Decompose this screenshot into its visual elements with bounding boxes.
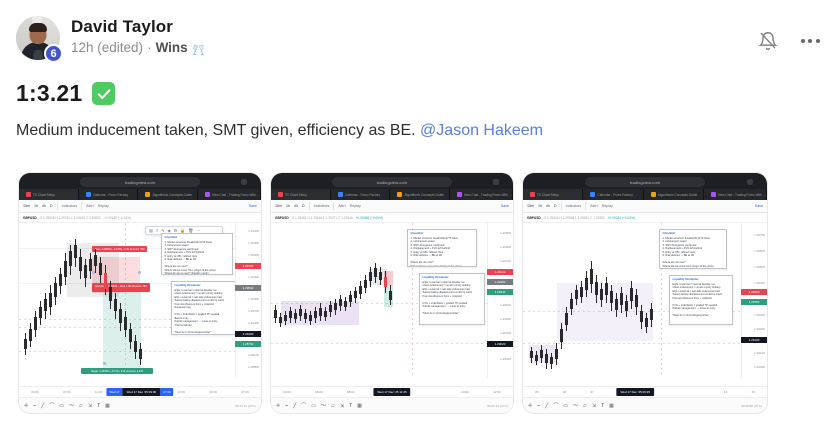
- price-tick: 1.29900: [500, 231, 511, 235]
- browser-tab[interactable]: Algorithmic Concepts Guide: [138, 189, 198, 200]
- favicon: [457, 192, 462, 197]
- price-tick: 1.29600: [500, 303, 511, 307]
- favicon: [590, 192, 595, 197]
- more-horizontal-icon[interactable]: [799, 30, 821, 52]
- interval-1h[interactable]: 1h: [538, 204, 542, 208]
- avatar-wrapper[interactable]: 6: [16, 16, 60, 60]
- chart-canvas-2[interactable]: Checklist 1. Market structure break/shif…: [271, 223, 513, 378]
- price-tick: 1.30900: [248, 241, 259, 245]
- line-icon[interactable]: ╱: [545, 403, 548, 409]
- time-cursor-pill-1: Wed 17 Wed 17 Dec '25 09:00 17:00: [106, 388, 173, 396]
- author-meta: David Taylor 12h (edited) · Wins: [71, 16, 205, 55]
- price-tick: 1.29300: [500, 357, 511, 361]
- price-tick: 1.29600: [754, 249, 765, 253]
- time-axis-2[interactable]: 04:00 06:00 08:00 10:00 ·· 20:00 22:00 W…: [271, 386, 513, 397]
- chart-thumbnail-3[interactable]: tradingview.com TV Chart Setup Calendar …: [523, 173, 767, 413]
- time-tick: 07:00: [63, 390, 71, 394]
- price-tick: 1.29700: [248, 309, 259, 313]
- note-line: "Must be in chronological order": [423, 312, 460, 315]
- time-tick: 08:00: [347, 390, 355, 394]
- browser-chrome-1: tradingview.com TV Chart Setup Calendar …: [19, 173, 261, 200]
- rectangle-icon[interactable]: ▭: [311, 403, 316, 409]
- price-tick: 1.29400: [248, 321, 259, 325]
- note-line: Partial management → move to entry: [423, 305, 466, 308]
- target-price-label: 1.29340: [487, 289, 513, 295]
- target-price-label: 1.29352: [741, 299, 767, 305]
- interval-1h[interactable]: 1h: [286, 204, 290, 208]
- drawing-tools-bar-3[interactable]: ✛ ⌁ ╱ ⌒ ▭ 〜 ▱ ⇲ T ▦ 09:28:58 (UTC): [523, 397, 767, 413]
- price-tick: 1.29800: [500, 245, 511, 249]
- note-line: Premium/discount from + midpoint: [423, 295, 462, 298]
- tab-label: Calendar - Forex Factory: [93, 193, 128, 197]
- last-price-label: 1.29100: [741, 337, 767, 343]
- time-tick: 06:00: [315, 390, 323, 394]
- attachment-gallery: tradingview.com TV Chart Setup Calendar …: [19, 173, 767, 413]
- favicon: [651, 192, 656, 197]
- price-tick: 1.29200: [754, 327, 765, 331]
- browser-tab[interactable]: TV Chart Setup: [523, 189, 583, 200]
- target-label: Target: 1.28752 (−0.7%) / 3.2L Amount: 2…: [81, 368, 153, 374]
- interval-15m[interactable]: 15m: [23, 204, 30, 208]
- post-timestamp: 12h (edited): [71, 40, 143, 55]
- wave-icon[interactable]: 〜: [573, 402, 578, 409]
- browser-url-bar-3: tradingview.com: [585, 177, 705, 187]
- favicon: [145, 192, 150, 197]
- time-tick: 05: [535, 390, 538, 394]
- browser-tab[interactable]: Algorithmic Concepts Guide: [390, 189, 450, 200]
- avatar-shirt: [34, 50, 43, 60]
- price-tick: 1.30600: [248, 253, 259, 257]
- time-tick: 11:00: [95, 390, 102, 394]
- last-price-label: 1.29102: [235, 331, 261, 337]
- note-line: Premium/discount from + midpoint: [673, 297, 712, 300]
- text-tool-icon[interactable]: T: [349, 403, 352, 409]
- page-title: 1:3.21: [16, 80, 82, 107]
- tab-label: Algorithmic Concepts Guide: [152, 193, 192, 197]
- range-zone-low[interactable]: [529, 345, 557, 363]
- browser-tab[interactable]: TV Chart Setup: [271, 189, 331, 200]
- replay-button[interactable]: Replay: [602, 204, 613, 208]
- browser-menu-icon-3: [747, 179, 753, 185]
- browser-tab[interactable]: Calendar - Forex Factory: [331, 189, 391, 200]
- entry-label: Entry/Exit: 1.29502 – Risk 1.0R Amount: …: [92, 283, 150, 292]
- note-line: Trail remainder: [175, 324, 192, 327]
- browser-menu-icon-1: [241, 179, 247, 185]
- price-tick: 1.31200: [248, 229, 259, 233]
- toolbar-divider: [309, 202, 310, 210]
- note-line: "Must be in chronological order": [673, 314, 710, 317]
- chart-canvas-1[interactable]: Stop: 1.29620 (−0.13%) / 1.3L Amount: 76…: [19, 223, 261, 378]
- drawing-tools-bar-1[interactable]: ✛ ⌁ ╱ ⌒ ▭ 〜 ▱ ⇲ T ▦ 09:21:31 (UTC): [19, 397, 261, 413]
- tab-label: Calendar - Forex Factory: [597, 193, 632, 197]
- post-tag[interactable]: Wins: [156, 40, 188, 55]
- price-tick: 1.29000: [754, 365, 765, 369]
- price-tick: 1.29700: [500, 259, 511, 263]
- white-check-mark-icon: [92, 82, 115, 105]
- callout-icon[interactable]: ▱: [583, 403, 587, 409]
- curve-icon[interactable]: ⌒: [553, 402, 558, 409]
- favicon: [338, 192, 343, 197]
- ruler-icon[interactable]: ▦: [609, 403, 614, 409]
- note-line: "Must be in chronological order": [175, 331, 212, 334]
- save-button[interactable]: Save: [755, 204, 763, 208]
- tv-symbol-bar-2: GBPUSD O 1.29481 H 1.29516 L 1.29271 C 1…: [271, 213, 513, 223]
- tv-toolbar-3: 15m 1h 4h D Indicators Alert Replay Save: [523, 200, 767, 213]
- alert-button[interactable]: Alert: [338, 204, 345, 208]
- level-line: [271, 343, 513, 344]
- liquidity-note-3[interactable]: Liquidity Reminder EQH / external = inte…: [669, 275, 733, 325]
- liquidity-note-2[interactable]: Liquidity Reminder EQH / external = inte…: [419, 273, 485, 325]
- price-tick: 1.29100: [248, 353, 259, 357]
- last-price-label: 1.29020: [487, 341, 513, 347]
- toolbar-divider: [57, 202, 58, 210]
- note-title: Checklist: [411, 232, 474, 236]
- tab-label: Algorithmic Concepts Guide: [404, 193, 444, 197]
- user-mention-link[interactable]: @Jason Hakeem: [420, 122, 543, 139]
- checklist-note-2[interactable]: Checklist 1. Market structure break/shif…: [407, 229, 477, 267]
- browser-chrome-3: tradingview.com TV Chart Setup Calendar …: [523, 173, 767, 200]
- interval-4h[interactable]: 4h: [546, 204, 550, 208]
- pill-right: 17:00: [160, 388, 174, 396]
- price-tick: 1.29400: [500, 331, 511, 335]
- measure-icon[interactable]: ⇲: [88, 403, 92, 409]
- take-profit-zone[interactable]: [103, 293, 141, 373]
- wave-icon[interactable]: 〜: [69, 402, 74, 409]
- bell-slash-icon[interactable]: [757, 30, 779, 52]
- time-tick: 07:00: [241, 390, 249, 394]
- wave-icon[interactable]: 〜: [321, 402, 326, 409]
- rectangle-icon[interactable]: ▭: [59, 403, 64, 409]
- time-tick: 04:00: [283, 390, 291, 394]
- note-line: Where did we come from (origin of the pr…: [663, 265, 714, 268]
- symbol-change: −0.00180 (−0.14%): [104, 216, 131, 220]
- tab-label: TV Chart Setup: [537, 193, 559, 197]
- tv-symbol-bar-1: GBPUSD O 1.29618 H 1.29781 L 1.29420 C 1…: [19, 213, 261, 223]
- chart-clock: 09:21:31 (UTC): [487, 404, 508, 408]
- tab-label: Algorithmic Concepts Guide: [658, 193, 698, 197]
- symbol-ticker[interactable]: GBPUSD: [527, 216, 541, 220]
- note-title: Liquidity Reminder: [673, 278, 730, 282]
- browser-tab[interactable]: Algorithmic Concepts Guide: [644, 189, 704, 200]
- time-tick: 23:00: [177, 390, 185, 394]
- note-title: Liquidity Reminder: [175, 284, 234, 288]
- tab-label: New Chat - Trading Forex With …: [464, 193, 512, 197]
- liquidity-note-1[interactable]: Liquidity Reminder EQH / external = inte…: [171, 281, 237, 335]
- browser-tabs-3: TV Chart Setup Calendar - Forex Factory …: [523, 189, 767, 200]
- tv-toolbar-1: 15m 1h 4h D Indicators Alert Replay Save: [19, 200, 261, 213]
- time-tick: 03:00: [31, 390, 39, 394]
- toolbar-divider: [561, 202, 562, 210]
- cursor-icon[interactable]: ✛: [276, 403, 280, 409]
- pill-center: Wed 17 Dec '25 11:45: [373, 388, 410, 396]
- interval-4h[interactable]: 4h: [294, 204, 298, 208]
- browser-tab[interactable]: New Chat - Trading Forex With …: [198, 189, 261, 200]
- interval-d[interactable]: D: [554, 204, 557, 208]
- toolbar-divider: [585, 202, 586, 210]
- tv-symbol-bar-3: GBPUSD O 1.29318 H 1.29366 L 1.29281 C 1…: [523, 213, 767, 223]
- tab-label: New Chat - Trading Forex With …: [212, 193, 260, 197]
- avatar-level-badge: 6: [44, 44, 63, 63]
- meta-separator: ·: [147, 40, 152, 55]
- stop-price-label: 1.29610: [487, 269, 513, 275]
- save-button[interactable]: Save: [501, 204, 509, 208]
- time-tick: 07: [590, 390, 593, 394]
- tab-label: New Chat - Trading Forex With …: [718, 193, 766, 197]
- symbol-change: +0.00068 (+0.05%): [356, 216, 383, 220]
- price-tick: 1.29400: [754, 281, 765, 285]
- indicators-button[interactable]: Indicators: [566, 204, 582, 208]
- chart-canvas-3[interactable]: Checklist 1. Market structure break/shif…: [523, 223, 767, 378]
- note-line: Where did we come from (origin of the pr…: [411, 265, 462, 267]
- line-icon[interactable]: ╱: [293, 403, 296, 409]
- stop-price-label: 1.29420: [741, 289, 767, 295]
- checklist-note-3[interactable]: Checklist 1. Market structure break/shif…: [659, 229, 727, 269]
- favicon: [278, 192, 283, 197]
- post-submeta: 12h (edited) · Wins: [71, 40, 205, 55]
- rectangle-icon[interactable]: ▭: [563, 403, 568, 409]
- checklist-note-1[interactable]: Checklist 1. Market structure break/shif…: [161, 233, 233, 275]
- measure-icon[interactable]: ⇲: [592, 403, 596, 409]
- ruler-icon[interactable]: ▦: [105, 403, 110, 409]
- post-header-actions: [757, 30, 821, 52]
- social-post: 6 David Taylor 12h (edited) · Wins: [0, 0, 835, 421]
- chart-thumbnail-2[interactable]: tradingview.com TV Chart Setup Calendar …: [271, 173, 513, 413]
- price-tick: 1.30000: [248, 297, 259, 301]
- style-icon[interactable]: ▤: [149, 228, 153, 233]
- price-tick: 1.29500: [754, 265, 765, 269]
- note-line: Partial management → move to entry: [673, 307, 716, 310]
- line-icon[interactable]: ╱: [41, 403, 44, 409]
- browser-tab[interactable]: TV Chart Setup: [19, 189, 79, 200]
- browser-tabs-1: TV Chart Setup Calendar - Forex Factory …: [19, 189, 261, 200]
- favicon: [530, 192, 535, 197]
- note-line: 6. Risk defined → BE at 1R: [663, 254, 695, 257]
- time-axis-1[interactable]: 03:00 07:00 11:00 ·· 23:00 03:00 07:00 W…: [19, 386, 261, 397]
- chart-clock: 09:21:31 (UTC): [235, 404, 256, 408]
- browser-tab[interactable]: New Chat - Trading Forex With …: [704, 189, 767, 200]
- symbol-change: +0.00034 (+0.03%): [608, 216, 635, 220]
- symbol-ohlc: O 1.29618 H 1.29781 L 1.29420 C 1.29502: [40, 216, 101, 220]
- curve-icon[interactable]: ⌒: [49, 402, 54, 409]
- browser-tab[interactable]: New Chat - Trading Forex With …: [450, 189, 513, 200]
- note-title: Checklist: [165, 236, 230, 240]
- toolbar-divider: [81, 202, 82, 210]
- interval-d[interactable]: D: [50, 204, 53, 208]
- symbol-ohlc: O 1.29318 H 1.29366 L 1.29281 C 1.29352: [544, 216, 605, 220]
- magnet-icon[interactable]: ⌁: [285, 403, 288, 409]
- text-icon[interactable]: T: [156, 228, 158, 233]
- browser-tab[interactable]: Calendar - Forex Factory: [79, 189, 139, 200]
- alert-button[interactable]: Alert: [590, 204, 597, 208]
- note-title: Checklist: [663, 232, 724, 236]
- clinking-glasses-icon: [192, 43, 205, 56]
- text-tool-icon[interactable]: T: [601, 403, 604, 409]
- price-tick: 1.29700: [754, 233, 765, 237]
- tab-label: TV Chart Setup: [285, 193, 307, 197]
- chart-thumbnail-1[interactable]: tradingview.com TV Chart Setup Calendar …: [19, 173, 261, 413]
- interval-15m[interactable]: 15m: [275, 204, 282, 208]
- indicators-button[interactable]: Indicators: [62, 204, 78, 208]
- stop-loss-label: Stop: 1.29620 (−0.13%) / 1.3L Amount: 76…: [92, 246, 147, 252]
- browser-menu-icon-2: [493, 179, 499, 185]
- entry-price-label: 1.29481: [487, 279, 513, 285]
- note-line: Expansion leg: [175, 306, 191, 309]
- price-scale-3[interactable]: 1.29700 1.29600 1.29500 1.29400 1.29420 …: [741, 223, 767, 378]
- symbol-ohlc: O 1.29481 H 1.29516 L 1.29271 C 1.29340: [292, 216, 353, 220]
- time-tick: 22:00: [493, 390, 501, 394]
- interval-15m[interactable]: 15m: [527, 204, 534, 208]
- pill-center: Wed 17 Dec '25 09:00: [123, 388, 161, 396]
- magnet-icon[interactable]: ⌁: [537, 403, 540, 409]
- price-tick: 1.29100: [754, 351, 765, 355]
- time-tick: 20:00: [461, 390, 469, 394]
- toolbar-divider: [333, 202, 334, 210]
- favicon: [26, 192, 31, 197]
- stop-price-label: 1.29781: [235, 263, 261, 269]
- favicon: [205, 192, 210, 197]
- interval-4h[interactable]: 4h: [42, 204, 46, 208]
- replay-button[interactable]: Replay: [350, 204, 361, 208]
- browser-tabs-2: TV Chart Setup Calendar - Forex Factory …: [271, 189, 513, 200]
- tab-label: TV Chart Setup: [33, 193, 55, 197]
- author-name[interactable]: David Taylor: [71, 17, 205, 37]
- pill-left: Wed 17: [106, 388, 122, 396]
- text-tool-icon[interactable]: T: [97, 403, 100, 409]
- ruler-icon[interactable]: ▦: [357, 403, 362, 409]
- price-tick: 1.29300: [754, 313, 765, 317]
- note-title: Liquidity Reminder: [423, 276, 482, 280]
- callout-icon[interactable]: ▱: [79, 403, 83, 409]
- callout-icon[interactable]: ▱: [331, 403, 335, 409]
- alert-button[interactable]: Alert: [86, 204, 93, 208]
- cursor-icon[interactable]: ✛: [24, 403, 28, 409]
- note-line: 6. Risk defined → BE at 1R: [165, 258, 197, 261]
- price-tick: 1.29500: [500, 317, 511, 321]
- price-scale-2[interactable]: 1.29900 1.29800 1.29700 1.29610 1.29481 …: [487, 223, 513, 378]
- interval-1h[interactable]: 1h: [34, 204, 38, 208]
- symbol-ticker[interactable]: GBPUSD: [23, 216, 37, 220]
- chart-clock: 09:28:58 (UTC): [741, 404, 762, 408]
- note-line: 6. Risk defined → BE at 1R: [411, 254, 443, 257]
- time-tick: 14: [724, 390, 727, 394]
- price-tick: 1.30300: [248, 275, 259, 279]
- level-line: [523, 343, 767, 344]
- avatar-hair: [29, 23, 47, 32]
- favicon: [397, 192, 402, 197]
- price-tick: 1.28800: [248, 365, 259, 369]
- favicon: [86, 192, 91, 197]
- time-axis-3[interactable]: 05 06 07 08 09 ·· 14 15 Wed 17 Dec '25 0…: [523, 386, 767, 397]
- drawing-tools-bar-2[interactable]: ✛ ⌁ ╱ ⌒ ▭ 〜 ▱ ⇲ T ▦ 09:21:31 (UTC): [271, 397, 513, 413]
- time-tick: 06: [563, 390, 566, 394]
- curve-icon[interactable]: ⌒: [301, 402, 306, 409]
- target-price-label: 1.28752: [235, 341, 261, 347]
- symbol-ticker[interactable]: GBPUSD: [275, 216, 289, 220]
- more-dots: [801, 39, 820, 43]
- tv-toolbar-2: 15m 1h 4h D Indicators Alert Replay Save: [271, 200, 513, 213]
- magnet-icon[interactable]: ⌁: [33, 403, 36, 409]
- time-cursor-pill-3: Wed 17 Dec '25 09:35: [616, 388, 654, 396]
- post-header: 6 David Taylor 12h (edited) · Wins: [0, 0, 835, 60]
- replay-button[interactable]: Replay: [98, 204, 109, 208]
- pill-center: Wed 17 Dec '25 09:35: [616, 388, 654, 396]
- time-tick: 03:00: [209, 390, 217, 394]
- post-body: Medium inducement taken, SMT given, effi…: [0, 107, 835, 142]
- cursor-icon[interactable]: ✛: [528, 403, 532, 409]
- interval-d[interactable]: D: [302, 204, 305, 208]
- post-title-row: 1:3.21: [0, 60, 835, 107]
- time-tick: 15: [751, 390, 754, 394]
- price-scale-1[interactable]: 1.31200 1.30900 1.30600 1.29781 1.30300 …: [235, 223, 261, 378]
- tab-label: Calendar - Forex Factory: [345, 193, 380, 197]
- entry-price-label: 1.29502: [235, 285, 261, 291]
- note-line: Where do we go next? (liquidity pools): [165, 272, 209, 275]
- browser-url-bar-1: tradingview.com: [80, 177, 200, 187]
- indicators-button[interactable]: Indicators: [314, 204, 330, 208]
- post-body-text: Medium inducement taken, SMT given, effi…: [16, 122, 420, 139]
- save-button[interactable]: Save: [249, 204, 257, 208]
- favicon: [711, 192, 716, 197]
- browser-tab[interactable]: Calendar - Forex Factory: [583, 189, 643, 200]
- time-cursor-pill-2: Wed 17 Dec '25 11:45: [373, 388, 410, 396]
- measure-icon[interactable]: ⇲: [340, 403, 344, 409]
- browser-chrome-2: tradingview.com TV Chart Setup Calendar …: [271, 173, 513, 200]
- browser-url-bar-2: tradingview.com: [332, 177, 452, 187]
